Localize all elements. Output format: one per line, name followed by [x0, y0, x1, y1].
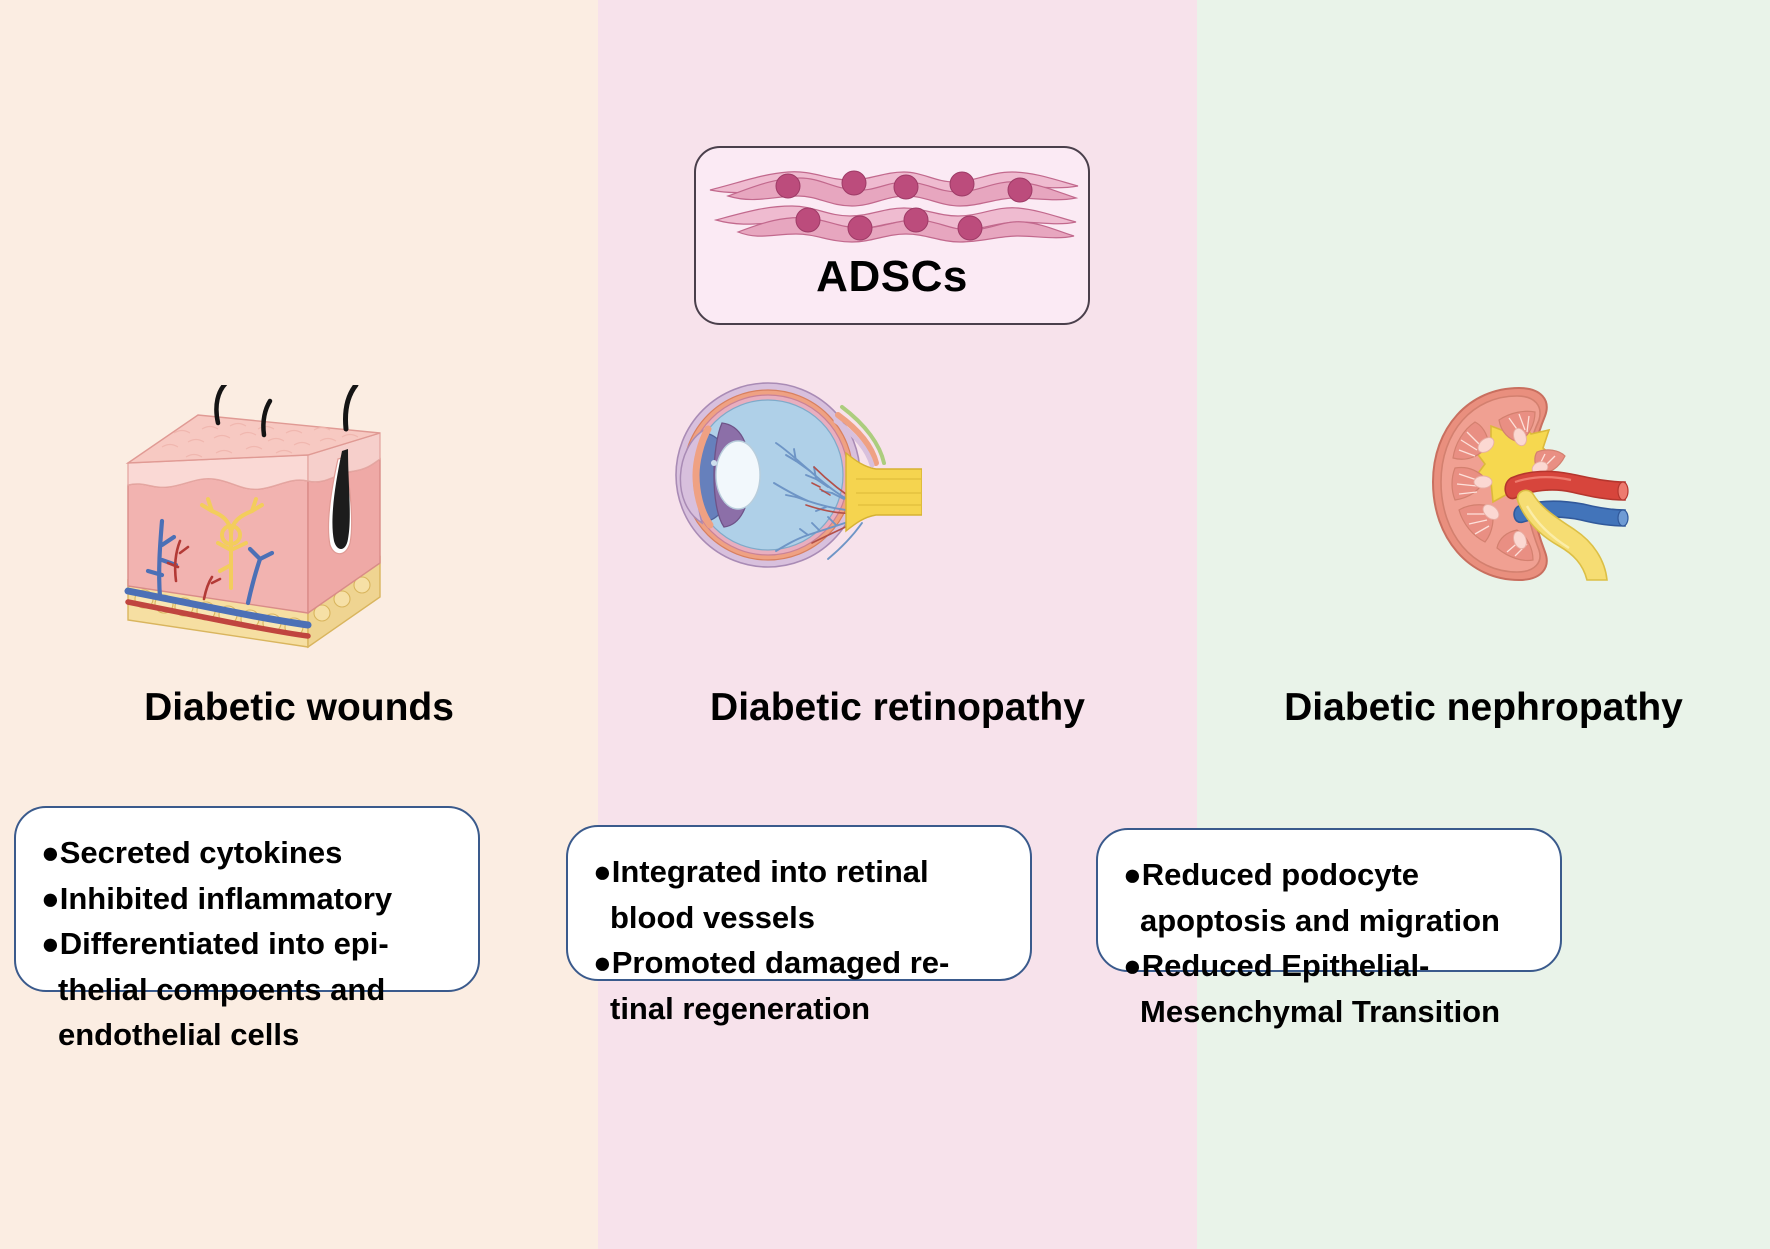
title-diabetic-retinopathy: Diabetic retinopathy — [598, 686, 1197, 730]
bullet-line: ●Secreted cytokines — [58, 830, 452, 876]
column-band-nephropathy — [1197, 0, 1770, 1249]
bullet-line: apoptosis and migration — [1140, 898, 1534, 944]
bullet-line: ●Promoted damaged re- — [610, 940, 1004, 986]
mesenchymal-stem-cells-icon: .cyto { fill:#E7A6BF; stroke:#C2698D; st… — [708, 156, 1080, 256]
adscs-label: ADSCs — [696, 252, 1088, 302]
figure-canvas: .cyto { fill:#E7A6BF; stroke:#C2698D; st… — [0, 0, 1770, 1249]
bullet-line: endothelial cells — [58, 1012, 452, 1058]
bullet-line: thelial compoents and — [58, 967, 452, 1013]
bullet-line: Mesenchymal Transition — [1140, 989, 1534, 1035]
kidney-cross-section-icon — [1415, 382, 1631, 586]
callout-diabetic-nephropathy: ●Reduced podocyte apoptosis and migratio… — [1096, 828, 1562, 972]
title-diabetic-nephropathy: Diabetic nephropathy — [1197, 686, 1770, 730]
bullet-line: ●Reduced podocyte — [1140, 852, 1534, 898]
skin-cross-section-icon — [118, 385, 390, 685]
bullet-line: ●Differentiated into epi- — [58, 921, 452, 967]
eye-cross-section-icon — [660, 375, 922, 575]
callout-diabetic-retinopathy: ●Integrated into retinal blood vessels ●… — [566, 825, 1032, 981]
callout-diabetic-wounds: ●Secreted cytokines ●Inhibited inflammat… — [14, 806, 480, 992]
bullet-line: blood vessels — [610, 895, 1004, 941]
bullet-line: ●Reduced Epithelial- — [1140, 943, 1534, 989]
bullet-line: ●Inhibited inflammatory — [58, 876, 452, 922]
bullet-line: ●Integrated into retinal — [610, 849, 1004, 895]
adscs-card: .cyto { fill:#E7A6BF; stroke:#C2698D; st… — [694, 146, 1090, 325]
bullet-line: tinal regeneration — [610, 986, 1004, 1032]
title-diabetic-wounds: Diabetic wounds — [0, 686, 598, 730]
